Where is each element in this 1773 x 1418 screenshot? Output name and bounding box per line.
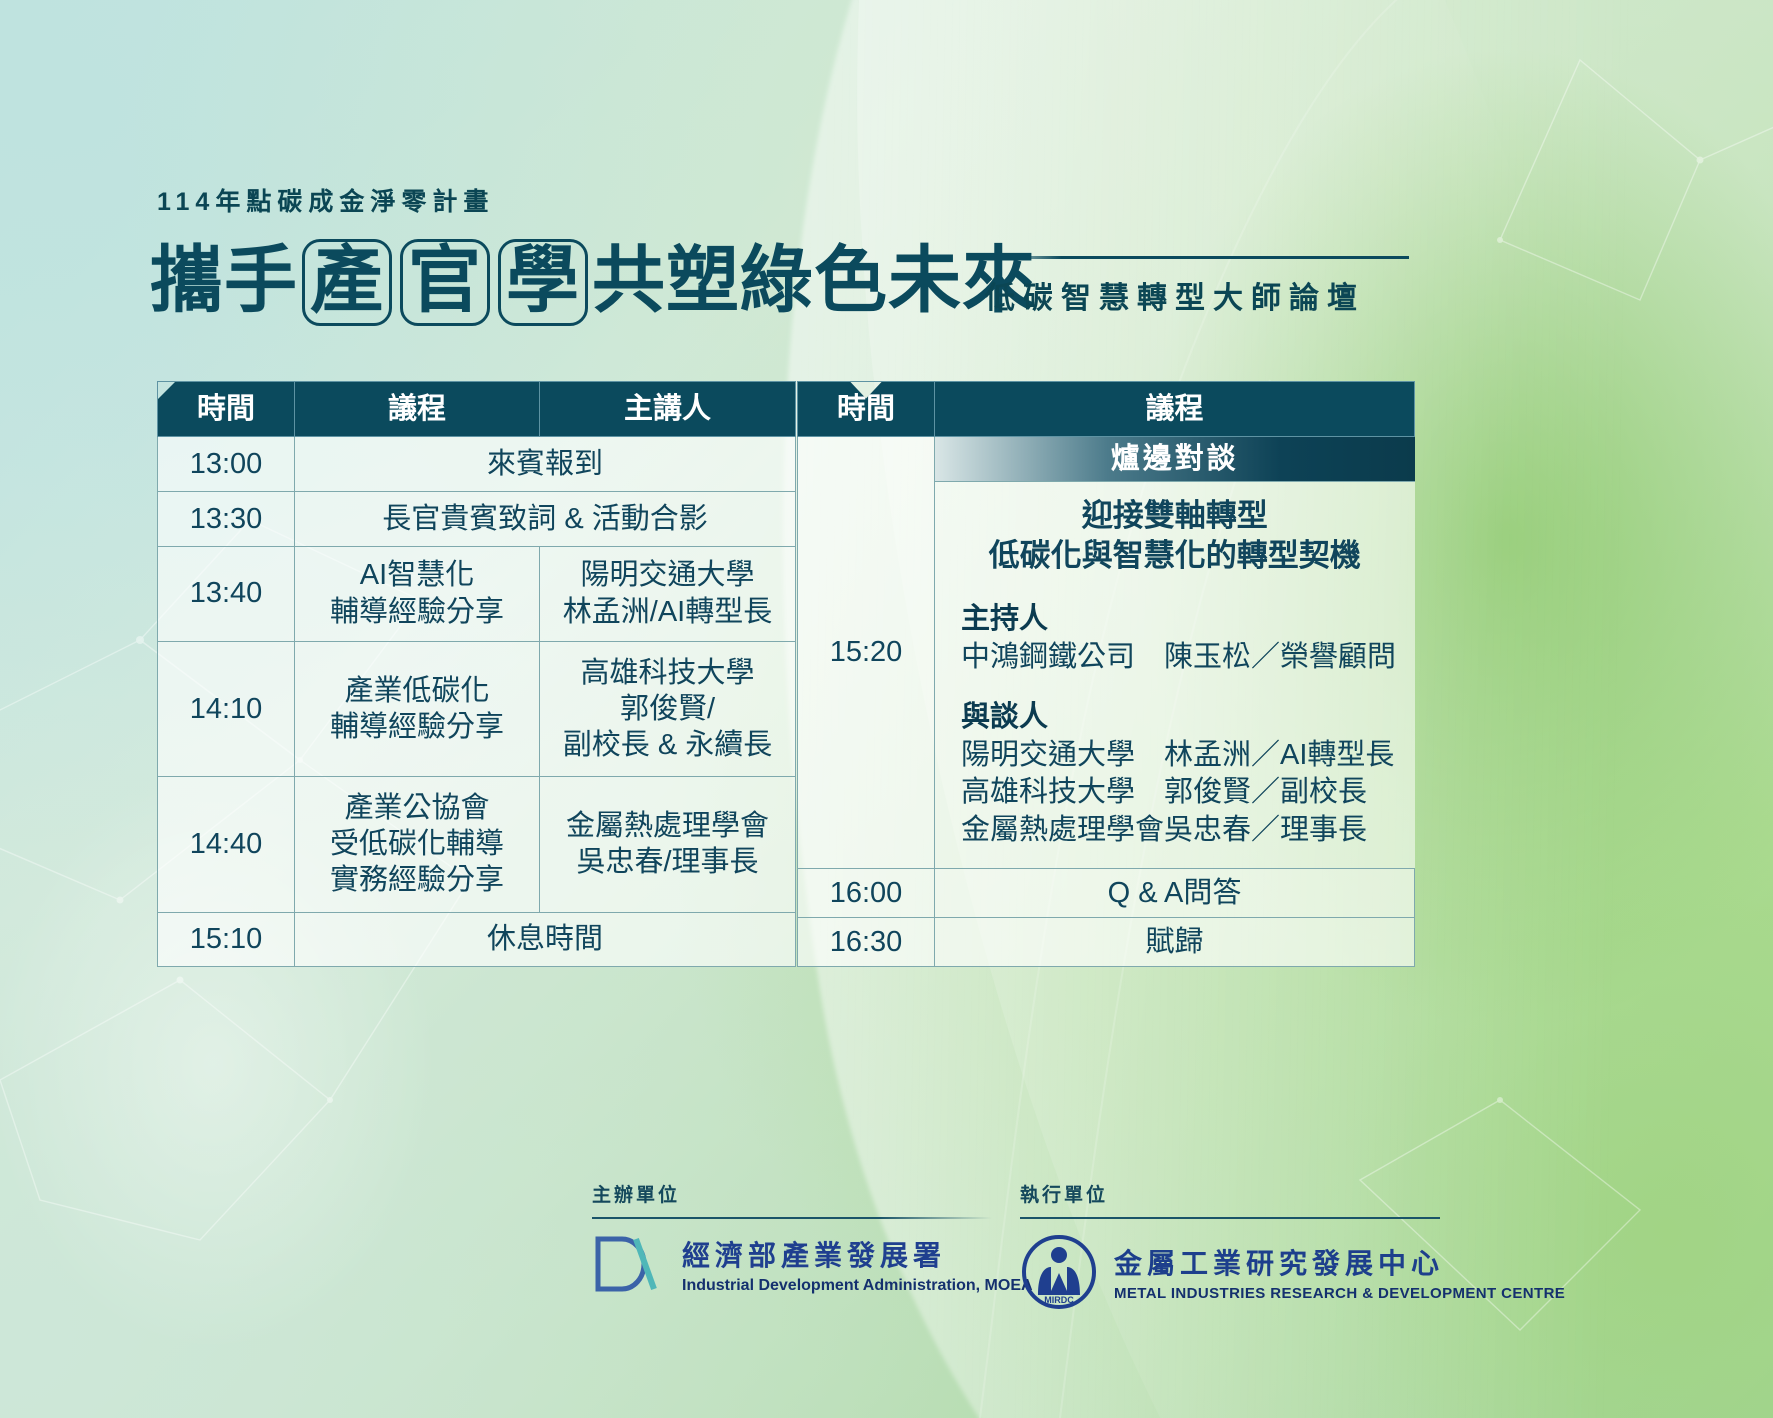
cell-time: 16:00 <box>798 868 935 917</box>
fireside-moderator-line: 中鴻鋼鐵公司 陳玉松／榮譽顧問 <box>961 639 1415 677</box>
executor-name-cn: 金屬工業研究發展中心 <box>1114 1242 1565 1282</box>
cell-speaker-line: 林孟洲/AI轉型長 <box>544 594 791 630</box>
cell-speaker-line: 郭俊賢/ <box>544 691 791 727</box>
mirdc-logo-icon: MIRDC <box>1020 1233 1098 1311</box>
ida-logo-icon <box>592 1233 666 1295</box>
host-name-en: Industrial Development Administration, M… <box>682 1277 1033 1295</box>
cell-time: 15:10 <box>158 912 295 967</box>
host-label: 主辦單位 <box>592 1180 992 1207</box>
executor-label: 執行單位 <box>1020 1180 1440 1207</box>
poster: 114年點碳成金淨零計畫 攜手產官學共塑綠色未來 低碳智慧轉型大師論壇 時間 議… <box>0 0 1773 1418</box>
fireside-panelist-line: 高雄科技大學 郭俊賢／副校長 <box>961 774 1415 812</box>
cell-time: 13:30 <box>158 491 295 546</box>
fireside-moderator-label-block: 主持人中鴻鋼鐵公司 陳玉松／榮譽顧問 <box>935 601 1415 677</box>
cell-time: 16:30 <box>798 918 935 967</box>
host-rule <box>592 1217 992 1219</box>
host-name-cn: 經濟部產業發展署 <box>682 1234 1033 1274</box>
cell-topic: 休息時間 <box>295 912 796 967</box>
fireside-headline: 迎接雙軸轉型低碳化與智慧化的轉型契機 <box>935 496 1415 577</box>
column-header-time: 時間 <box>158 382 295 437</box>
cell-time: 13:00 <box>158 437 295 492</box>
fireside-panelist-label: 與談人 <box>961 699 1415 735</box>
main-title: 攜手產官學共塑綠色未來 <box>150 237 1036 324</box>
title-segment-0: 攜手 <box>150 244 298 317</box>
cell-speaker: 陽明交通大學林孟洲/AI轉型長 <box>540 546 796 641</box>
cell-topic-line: 輔導經驗分享 <box>299 709 535 745</box>
cell-speaker: 金屬熱處理學會吳忠春/理事長 <box>540 777 796 912</box>
fireside-body: 迎接雙軸轉型低碳化與智慧化的轉型契機主持人中鴻鋼鐵公司 陳玉松／榮譽顧問與談人陽… <box>935 482 1415 868</box>
cell-time: 14:40 <box>158 777 295 912</box>
cell-fireside: 爐邊對談迎接雙軸轉型低碳化與智慧化的轉型契機主持人中鴻鋼鐵公司 陳玉松／榮譽顧問… <box>935 437 1415 869</box>
cell-topic: 產業低碳化輔導經驗分享 <box>295 641 540 776</box>
cell-speaker-line: 副校長 & 永續長 <box>544 727 791 763</box>
title-boxed-char-1: 產 <box>302 239 392 326</box>
subtitle-rule <box>985 256 1409 259</box>
subtitle-block: 低碳智慧轉型大師論壇 <box>985 256 1409 317</box>
fireside-panelist-line: 陽明交通大學 林孟洲／AI轉型長 <box>961 737 1415 775</box>
cell-topic: 長官貴賓致詞 & 活動合影 <box>295 491 796 546</box>
cell-topic-line: 長官貴賓致詞 & 活動合影 <box>299 501 791 537</box>
table-header-row: 時間 議程 主講人 <box>158 382 796 437</box>
cell-agenda: 賦歸 <box>935 918 1415 967</box>
executor-name-en: METAL INDUSTRIES RESEARCH & DEVELOPMENT … <box>1114 1285 1565 1302</box>
cell-topic: 來賓報到 <box>295 437 796 492</box>
table-row: 13:30長官貴賓致詞 & 活動合影 <box>158 491 796 546</box>
title-boxed-char-3: 學 <box>498 239 588 326</box>
table-row: 14:40產業公協會受低碳化輔導實務經驗分享金屬熱處理學會吳忠春/理事長 <box>158 777 796 912</box>
cell-speaker-line: 吳忠春/理事長 <box>544 844 791 880</box>
table-row: 13:40AI智慧化輔導經驗分享陽明交通大學林孟洲/AI轉型長 <box>158 546 796 641</box>
host-organization: 主辦單位 經濟部產業發展署 Industrial Development Adm… <box>592 1180 992 1295</box>
cell-topic-line: 實務經驗分享 <box>299 862 535 898</box>
cell-speaker-line: 陽明交通大學 <box>544 557 791 593</box>
table-row: 14:10產業低碳化輔導經驗分享高雄科技大學郭俊賢/副校長 & 永續長 <box>158 641 796 776</box>
fireside-headline-line: 低碳化與智慧化的轉型契機 <box>935 536 1415 576</box>
executor-organization: 執行單位 MIRDC 金屬工業研究發展中心 METAL INDUSTRIES R… <box>1020 1180 1440 1311</box>
footer: 主辦單位 經濟部產業發展署 Industrial Development Adm… <box>0 1180 1773 1380</box>
kicker-text: 114年點碳成金淨零計畫 <box>157 182 494 218</box>
cell-topic: 產業公協會受低碳化輔導實務經驗分享 <box>295 777 540 912</box>
table-row: 13:00來賓報到 <box>158 437 796 492</box>
agenda-table-right: 時間 議程 15:20爐邊對談迎接雙軸轉型低碳化與智慧化的轉型契機主持人中鴻鋼鐵… <box>797 381 1415 967</box>
fireside-panelist-line: 金屬熱處理學會吳忠春／理事長 <box>961 812 1415 850</box>
fireside-moderator-label: 主持人 <box>961 601 1415 637</box>
cell-topic-line: 產業公協會 <box>299 790 535 826</box>
table-row: 16:00Q & A問答 <box>798 868 1415 917</box>
cell-time: 14:10 <box>158 641 295 776</box>
fireside-panelist-label-block: 與談人陽明交通大學 林孟洲／AI轉型長高雄科技大學 郭俊賢／副校長金屬熱處理學會… <box>935 699 1415 850</box>
cell-time: 15:20 <box>798 437 935 869</box>
cell-speaker-line: 高雄科技大學 <box>544 655 791 691</box>
main-title-text: 攜手產官學共塑綠色未來 <box>150 237 1036 324</box>
table-row: 15:10休息時間 <box>158 912 796 967</box>
table-header-row: 時間 議程 <box>798 382 1415 437</box>
title-boxed-char-2: 官 <box>400 239 490 326</box>
cell-topic-line: 休息時間 <box>299 921 791 957</box>
title-segment-4: 共塑綠色未來 <box>592 244 1036 317</box>
agenda-table-left-body: 13:00來賓報到13:30長官貴賓致詞 & 活動合影13:40AI智慧化輔導經… <box>158 437 796 967</box>
mirdc-logo-text: MIRDC <box>1044 1295 1074 1305</box>
cell-topic-line: 輔導經驗分享 <box>299 594 535 630</box>
agenda-table-left: 時間 議程 主講人 13:00來賓報到13:30長官貴賓致詞 & 活動合影13:… <box>157 381 796 967</box>
agenda-tables: 時間 議程 主講人 13:00來賓報到13:30長官貴賓致詞 & 活動合影13:… <box>157 381 1415 967</box>
cell-time: 13:40 <box>158 546 295 641</box>
table-row: 16:30賦歸 <box>798 918 1415 967</box>
cell-topic-line: 產業低碳化 <box>299 673 535 709</box>
cell-agenda: Q & A問答 <box>935 868 1415 917</box>
cell-topic-line: 來賓報到 <box>299 446 791 482</box>
cell-topic-line: 受低碳化輔導 <box>299 826 535 862</box>
cell-speaker: 高雄科技大學郭俊賢/副校長 & 永續長 <box>540 641 796 776</box>
agenda-table-right-body: 15:20爐邊對談迎接雙軸轉型低碳化與智慧化的轉型契機主持人中鴻鋼鐵公司 陳玉松… <box>798 437 1415 967</box>
column-header-speaker: 主講人 <box>540 382 796 437</box>
fireside-banner: 爐邊對談 <box>935 437 1415 482</box>
cell-topic: AI智慧化輔導經驗分享 <box>295 546 540 641</box>
column-header-time: 時間 <box>798 382 935 437</box>
fireside-spacer <box>935 677 1415 699</box>
cell-topic-line: AI智慧化 <box>299 557 535 593</box>
fireside-row: 15:20爐邊對談迎接雙軸轉型低碳化與智慧化的轉型契機主持人中鴻鋼鐵公司 陳玉松… <box>798 437 1415 869</box>
executor-rule <box>1020 1217 1440 1219</box>
column-header-topic: 議程 <box>295 382 540 437</box>
cell-speaker-line: 金屬熱處理學會 <box>544 808 791 844</box>
subtitle-text: 低碳智慧轉型大師論壇 <box>985 273 1409 317</box>
fireside-headline-line: 迎接雙軸轉型 <box>935 496 1415 536</box>
column-header-agenda: 議程 <box>935 382 1415 437</box>
